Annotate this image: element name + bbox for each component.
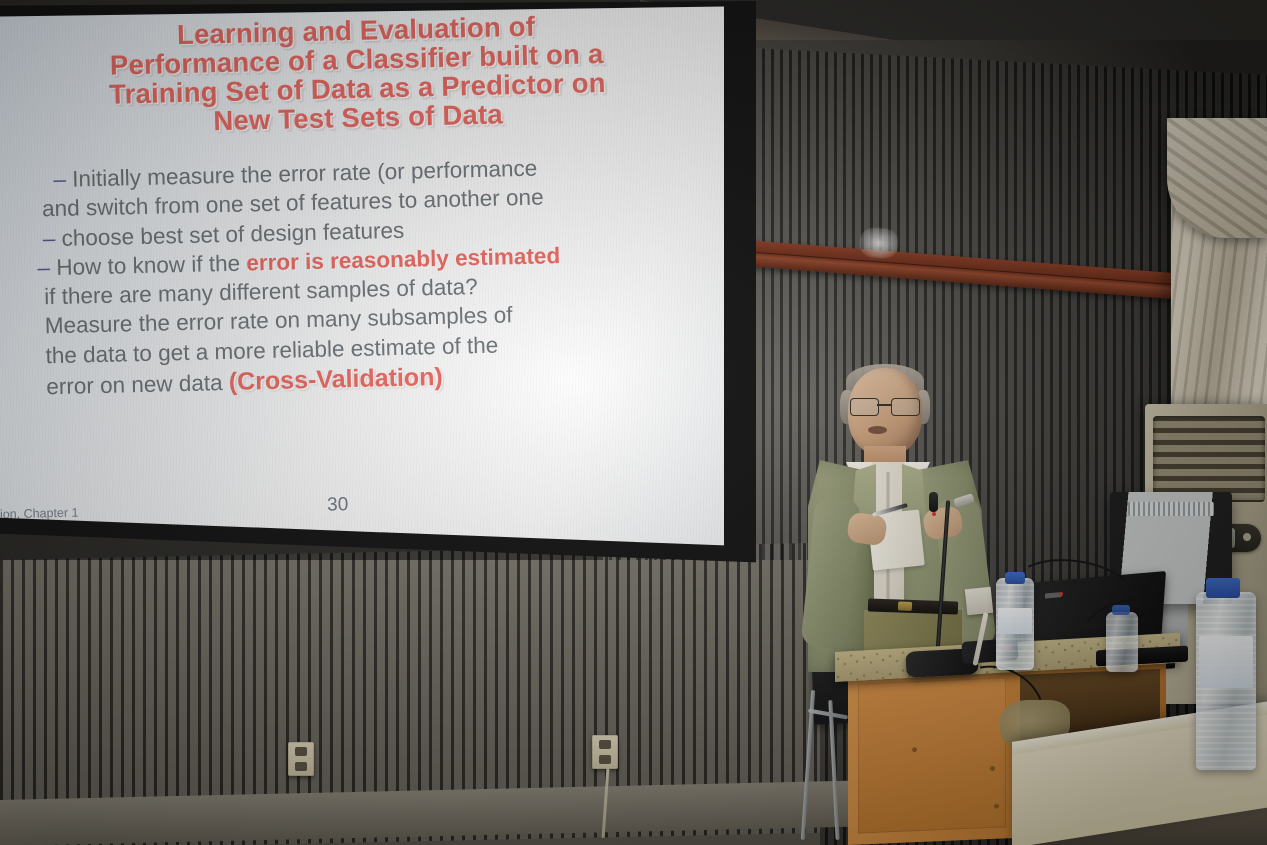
water-bottle-back-cap [1112, 605, 1130, 615]
bullet-3-line3: Measure the error rate on many subsample… [39, 297, 680, 341]
bullet-1: – Initially measure the error rate (or p… [35, 150, 676, 194]
slide-title-line-3: Training Set of Data as a Predictor on [47, 67, 668, 111]
bullet-3: – How to know if the error is reasonably… [37, 238, 678, 282]
microphone-led-icon [932, 512, 936, 516]
wall-outlet-right[interactable] [592, 735, 618, 769]
outlet-socket-upper [295, 747, 307, 756]
water-bottle-front-label [1199, 636, 1253, 688]
outlet-socket-lower [599, 755, 611, 764]
bullet-3-line3-text: Measure the error rate on many subsample… [45, 303, 513, 339]
slide-title-line-4: New Test Sets of Data [48, 96, 669, 140]
bullet-3-text: How to know if the [56, 250, 247, 279]
water-bottle-front-cap [1206, 578, 1240, 598]
slide-title: Learning and Evaluation of Performance o… [46, 9, 669, 140]
bullet-3-line4-text: the data to get a more reliable estimate… [45, 332, 498, 368]
bullet-1-text: Initially measure the error rate (or per… [72, 156, 538, 192]
bullet-3-line5: error on new data (Cross-Validation) [40, 355, 681, 403]
bullet-2: – choose best set of design features [36, 209, 677, 253]
bullet-3-highlight: error is reasonably estimated [246, 243, 560, 275]
glasses-lens-left [850, 398, 879, 416]
sticky-note [965, 587, 994, 616]
water-bottle-desk-label [998, 608, 1032, 634]
water-bottle-back[interactable] [1106, 612, 1138, 672]
slide-title-line-1: Learning and Evaluation of [46, 9, 667, 53]
bullet-dash: – [43, 226, 56, 251]
microphone-capsule [929, 492, 938, 512]
projection-screen: Learning and Evaluation of Performance o… [0, 2, 724, 568]
outlet-socket-upper [599, 740, 611, 749]
slide-title-line-2: Performance of a Classifier built on a [46, 38, 667, 82]
presenter-mouth [868, 426, 887, 434]
bullet-3-line5-text: error on new data [46, 370, 229, 399]
presenter-glasses [850, 398, 920, 414]
belt-buckle [898, 601, 912, 610]
presenter-hand-left [846, 512, 888, 547]
bullet-1-cont: and switch from one set of features to a… [36, 180, 677, 224]
outlet-socket-lower [295, 762, 307, 771]
bullet-dash: – [37, 255, 50, 280]
glasses-lens-right [891, 398, 920, 416]
wall-outlet-left[interactable] [288, 742, 314, 776]
glasses-bridge [877, 404, 891, 406]
air-conditioner-louvers [1153, 416, 1265, 502]
rail-tape-patch [859, 227, 899, 260]
water-bottle-desk-cap [1005, 572, 1025, 584]
bullet-3-line2-text: if there are many different samples of d… [44, 274, 478, 309]
slide-bullet-list: – Initially measure the error rate (or p… [35, 150, 680, 402]
bullet-dash: – [53, 167, 66, 192]
slide-page-number: 30 [327, 494, 349, 516]
bullet-3-line4: the data to get a more reliable estimate… [39, 326, 680, 370]
ac-button-right[interactable] [1243, 533, 1251, 541]
monitor-vent [1128, 502, 1214, 516]
bullet-1-cont-text: and switch from one set of features to a… [42, 185, 544, 222]
slide-content: Learning and Evaluation of Performance o… [0, 2, 724, 568]
cross-validation-highlight: (Cross-Validation) [229, 363, 444, 396]
bullet-3-line2: if there are many different samples of d… [38, 267, 679, 311]
bullet-2-text: choose best set of design features [61, 217, 404, 250]
lecture-hall-photo: Learning and Evaluation of Performance o… [0, 0, 1267, 845]
